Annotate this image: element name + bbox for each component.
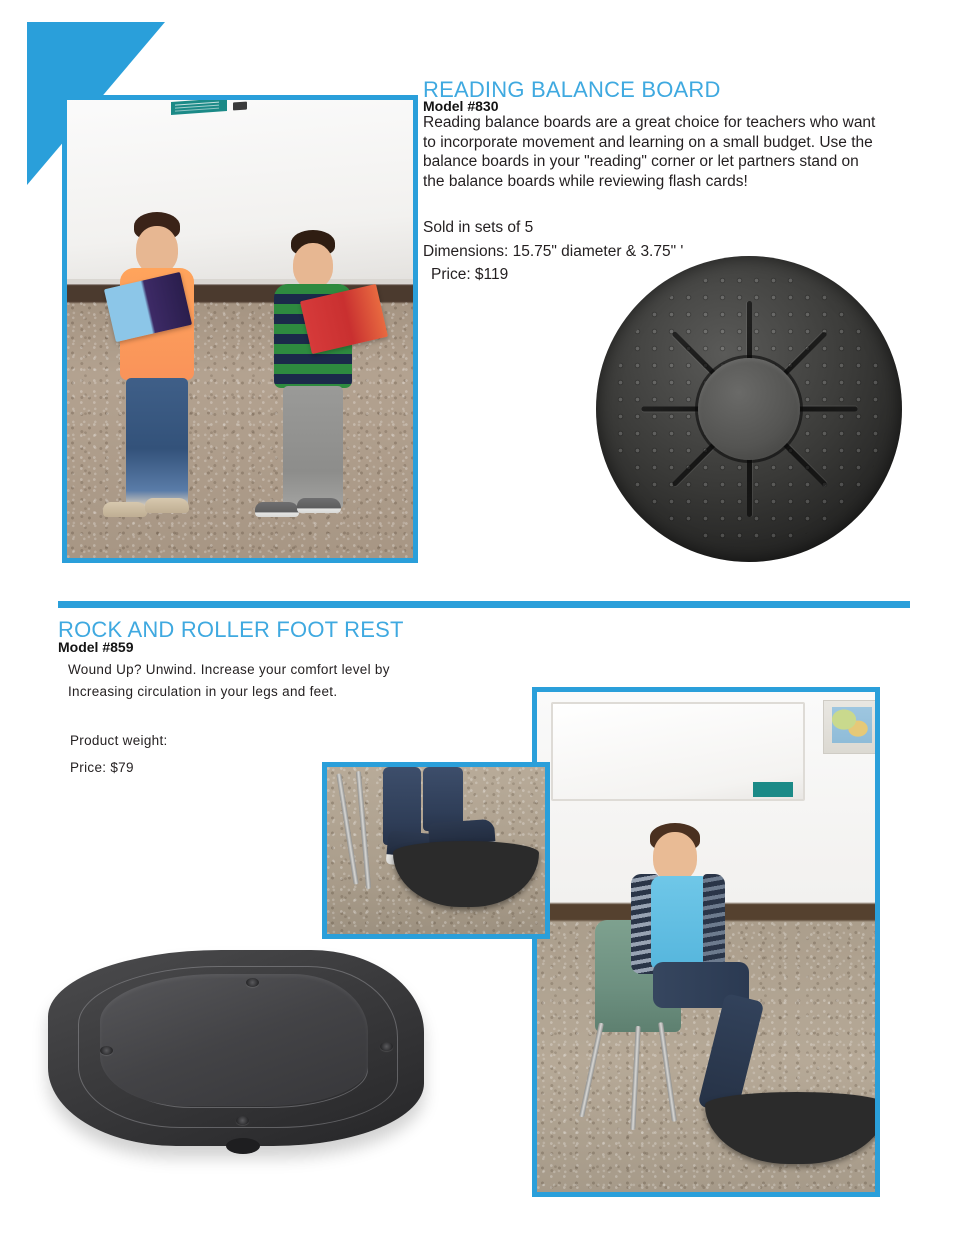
description-reading-balance-board: Reading balance boards are a great choic… bbox=[423, 113, 878, 191]
foot-rest-screw bbox=[246, 978, 259, 987]
child-striped-sweater bbox=[253, 230, 373, 560]
whiteboard-marker bbox=[233, 102, 247, 111]
child-shoe-left bbox=[255, 502, 299, 517]
child-cardigan-right bbox=[703, 874, 725, 970]
whiteboard bbox=[551, 702, 805, 801]
model-number-830: Model #830 bbox=[423, 98, 498, 114]
photo-balance-board-product bbox=[596, 256, 902, 562]
child-orange-shirt bbox=[97, 212, 217, 552]
child-shoe-right bbox=[145, 498, 189, 513]
fact-dimensions: Dimensions: 15.75" diameter & 3.75" ' bbox=[423, 243, 683, 261]
fact-product-weight: Product weight: bbox=[70, 733, 168, 748]
child-pants bbox=[283, 386, 343, 508]
wall-map-poster bbox=[823, 700, 880, 754]
whiteboard-teal-sign bbox=[171, 98, 227, 115]
foot-rest-screw bbox=[236, 1116, 249, 1125]
photo-feet-on-rock-and-roller bbox=[322, 762, 550, 939]
foot-rest-top-pad bbox=[100, 974, 368, 1106]
child-head bbox=[293, 243, 333, 288]
child-head bbox=[136, 226, 178, 274]
classroom-scene bbox=[537, 692, 875, 1192]
photo-two-children-reading-on-balance-boards bbox=[62, 95, 418, 563]
balance-board-under-child-right bbox=[243, 562, 367, 563]
fact-price-79: Price: $79 bbox=[70, 760, 134, 775]
whiteboard-teal-sign bbox=[753, 782, 793, 797]
foot-rest-screw bbox=[380, 1042, 393, 1051]
child-shoe-left bbox=[103, 502, 147, 517]
foot-rest-rocker-base bbox=[226, 1138, 260, 1154]
child-shoe-right bbox=[297, 498, 341, 513]
catalog-page: READING BALANCE BOARD Model #830 Reading… bbox=[0, 0, 960, 1242]
board-center-hub bbox=[698, 358, 800, 460]
child-polo-shirt bbox=[651, 876, 711, 968]
classroom-scene bbox=[67, 100, 413, 558]
foot-rest-body bbox=[48, 950, 424, 1146]
carpet-scene bbox=[327, 767, 545, 934]
section-divider-rule bbox=[58, 601, 910, 608]
fact-sold-in-sets: Sold in sets of 5 bbox=[423, 219, 533, 237]
photo-boy-seated-using-foot-rest bbox=[532, 687, 880, 1197]
seated-child bbox=[629, 810, 769, 1110]
child-head bbox=[653, 832, 697, 882]
photo-foot-rest-product bbox=[40, 940, 432, 1172]
description-rock-and-roller-foot-rest: Wound Up? Unwind. Increase your comfort … bbox=[68, 659, 423, 703]
foot-rest-screw bbox=[100, 1046, 113, 1055]
model-number-859: Model #859 bbox=[58, 639, 133, 655]
fact-price-119: Price: $119 bbox=[431, 266, 508, 284]
child-jeans bbox=[126, 378, 188, 506]
